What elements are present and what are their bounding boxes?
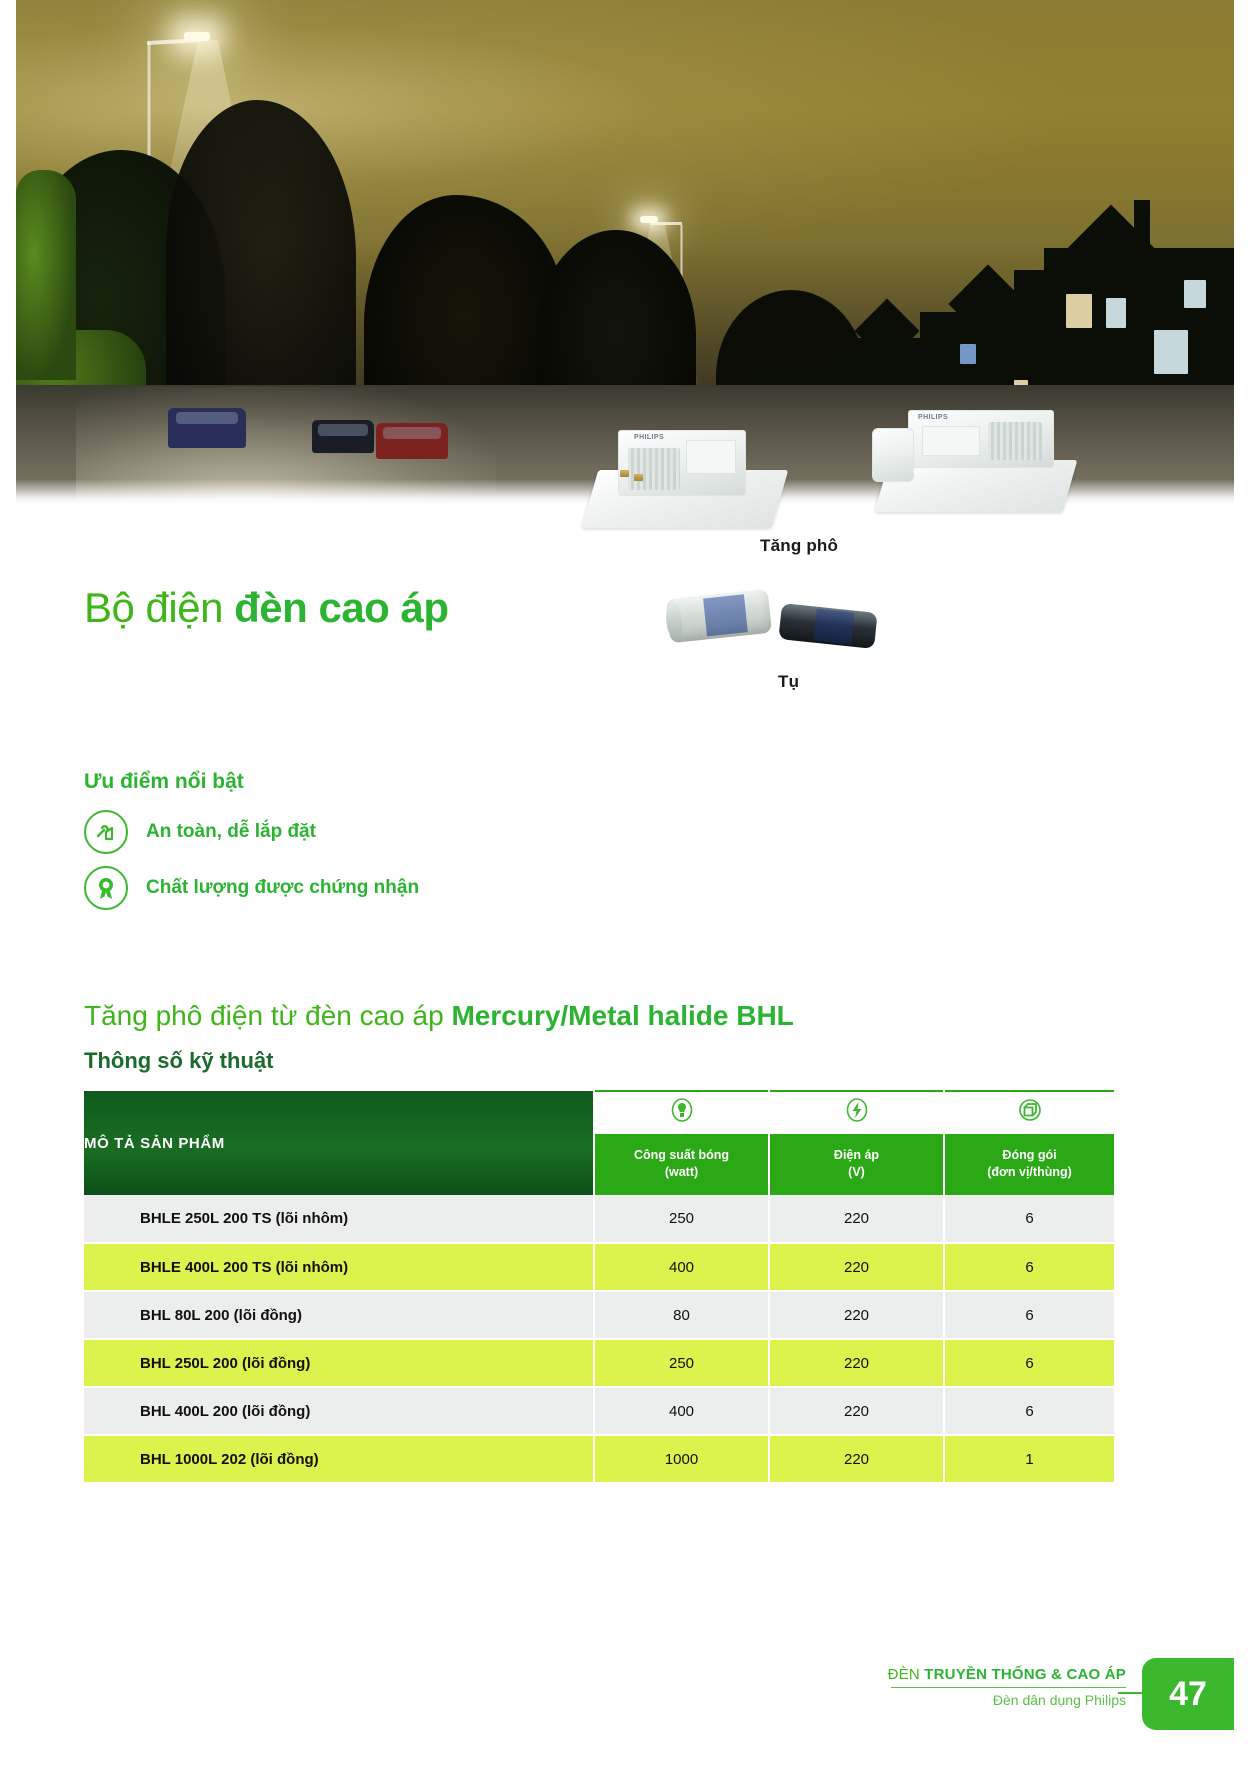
cell-description: BHL 400L 200 (lõi đồng) — [84, 1387, 594, 1435]
header-packaging: Đóng gói (đơn vị/thùng) — [944, 1133, 1114, 1195]
table-row: BHLE 400L 200 TS (lõi nhôm)4002206 — [84, 1243, 1114, 1291]
cell-description: BHL 250L 200 (lõi đồng) — [84, 1339, 594, 1387]
car-silhouette — [312, 420, 374, 453]
cell-wattage: 250 — [594, 1195, 769, 1243]
section-title: Tăng phô điện từ đèn cao áp Mercury/Meta… — [84, 1000, 794, 1032]
header-voltage-line2: (V) — [770, 1164, 943, 1181]
page-number-badge: 47 — [1142, 1658, 1234, 1730]
voltage-bolt-icon — [769, 1091, 944, 1133]
header-packaging-line1: Đóng gói — [945, 1147, 1114, 1164]
badge-connector — [1118, 1692, 1142, 1694]
page-title-light: Bộ điện — [84, 584, 234, 631]
capacitor-photo — [778, 603, 877, 649]
cell-wattage: 400 — [594, 1387, 769, 1435]
cell-packaging: 1 — [944, 1435, 1114, 1483]
benefit-item: An toàn, dễ lắp đặt — [84, 810, 316, 854]
cell-packaging: 6 — [944, 1195, 1114, 1243]
cell-description: BHL 80L 200 (lõi đồng) — [84, 1291, 594, 1339]
ballast-photo: PHILIPS — [830, 400, 1070, 530]
cell-description: BHLE 400L 200 TS (lõi nhôm) — [84, 1243, 594, 1291]
section-title-bold: Mercury/Metal halide BHL — [451, 1000, 793, 1031]
car-silhouette — [376, 423, 448, 459]
package-box-icon — [944, 1091, 1114, 1133]
catalog-page: PHILIPS PHILIPS Tăng phô Tụ Bộ đ — [0, 0, 1250, 1778]
cell-wattage: 250 — [594, 1339, 769, 1387]
section-title-light: Tăng phô điện từ đèn cao áp — [84, 1000, 451, 1031]
table-row: BHL 400L 200 (lõi đồng)4002206 — [84, 1387, 1114, 1435]
page-title: Bộ điện đèn cao áp — [84, 584, 449, 632]
cell-voltage: 220 — [769, 1195, 944, 1243]
cell-packaging: 6 — [944, 1243, 1114, 1291]
header-packaging-line2: (đơn vị/thùng) — [945, 1164, 1114, 1181]
benefit-label: An toàn, dễ lắp đặt — [146, 821, 316, 843]
easy-install-icon — [84, 810, 128, 854]
footer-category-light: ĐÈN — [888, 1666, 925, 1683]
footer-divider — [891, 1687, 1126, 1688]
product-photos: PHILIPS PHILIPS Tăng phô Tụ — [580, 400, 1100, 770]
cell-voltage: 220 — [769, 1243, 944, 1291]
page-title-bold: đèn cao áp — [234, 584, 448, 631]
capacitor-label: Tụ — [778, 672, 799, 692]
header-voltage: Điện áp (V) — [769, 1133, 944, 1195]
cell-voltage: 220 — [769, 1339, 944, 1387]
lamp-head-light — [640, 216, 658, 223]
cell-voltage: 220 — [769, 1291, 944, 1339]
benefits-heading: Ưu điểm nổi bật — [84, 770, 244, 794]
capacitor-photo — [666, 589, 772, 643]
header-wattage-line2: (watt) — [595, 1164, 768, 1181]
benefit-item: Chất lượng được chứng nhận — [84, 866, 419, 910]
cell-packaging: 6 — [944, 1291, 1114, 1339]
cell-wattage: 1000 — [594, 1435, 769, 1483]
header-wattage: Công suất bóng (watt) — [594, 1133, 769, 1195]
cell-wattage: 400 — [594, 1243, 769, 1291]
spec-title: Thông số kỹ thuật — [84, 1048, 273, 1074]
lamp-icon — [594, 1091, 769, 1133]
footer-category-bold: TRUYỀN THỐNG & CAO ÁP — [924, 1666, 1126, 1683]
lamp-head-light — [184, 32, 210, 41]
quality-award-icon — [84, 866, 128, 910]
benefit-label: Chất lượng được chứng nhận — [146, 877, 419, 899]
cell-voltage: 220 — [769, 1435, 944, 1483]
footer-subtitle: Đèn dân dụng Philips — [888, 1692, 1126, 1708]
cell-description: BHLE 250L 200 TS (lõi nhôm) — [84, 1195, 594, 1243]
table-header-icon-row: MÔ TẢ SẢN PHẨM — [84, 1091, 1114, 1133]
car-silhouette — [168, 408, 246, 448]
ballast-label: Tăng phô — [760, 536, 838, 556]
hedge-silhouette — [16, 170, 76, 380]
cell-packaging: 6 — [944, 1387, 1114, 1435]
cell-wattage: 80 — [594, 1291, 769, 1339]
table-row: BHL 80L 200 (lõi đồng)802206 — [84, 1291, 1114, 1339]
spec-table: MÔ TẢ SẢN PHẨM — [84, 1090, 1114, 1484]
table-body: BHLE 250L 200 TS (lõi nhôm)2502206BHLE 4… — [84, 1195, 1114, 1483]
cell-packaging: 6 — [944, 1339, 1114, 1387]
footer: ĐÈN TRUYỀN THỐNG & CAO ÁP Đèn dân dụng P… — [888, 1666, 1126, 1708]
cell-description: BHL 1000L 202 (lõi đồng) — [84, 1435, 594, 1483]
header-description: MÔ TẢ SẢN PHẨM — [84, 1091, 594, 1195]
cell-voltage: 220 — [769, 1387, 944, 1435]
footer-category: ĐÈN TRUYỀN THỐNG & CAO ÁP — [888, 1666, 1126, 1683]
table-row: BHL 1000L 202 (lõi đồng)10002201 — [84, 1435, 1114, 1483]
header-wattage-line1: Công suất bóng — [595, 1147, 768, 1164]
ballast-photo: PHILIPS — [590, 418, 800, 538]
table-head: MÔ TẢ SẢN PHẨM — [84, 1091, 1114, 1195]
header-voltage-line1: Điện áp — [770, 1147, 943, 1164]
table-row: BHLE 250L 200 TS (lõi nhôm)2502206 — [84, 1195, 1114, 1243]
table-row: BHL 250L 200 (lõi đồng)2502206 — [84, 1339, 1114, 1387]
